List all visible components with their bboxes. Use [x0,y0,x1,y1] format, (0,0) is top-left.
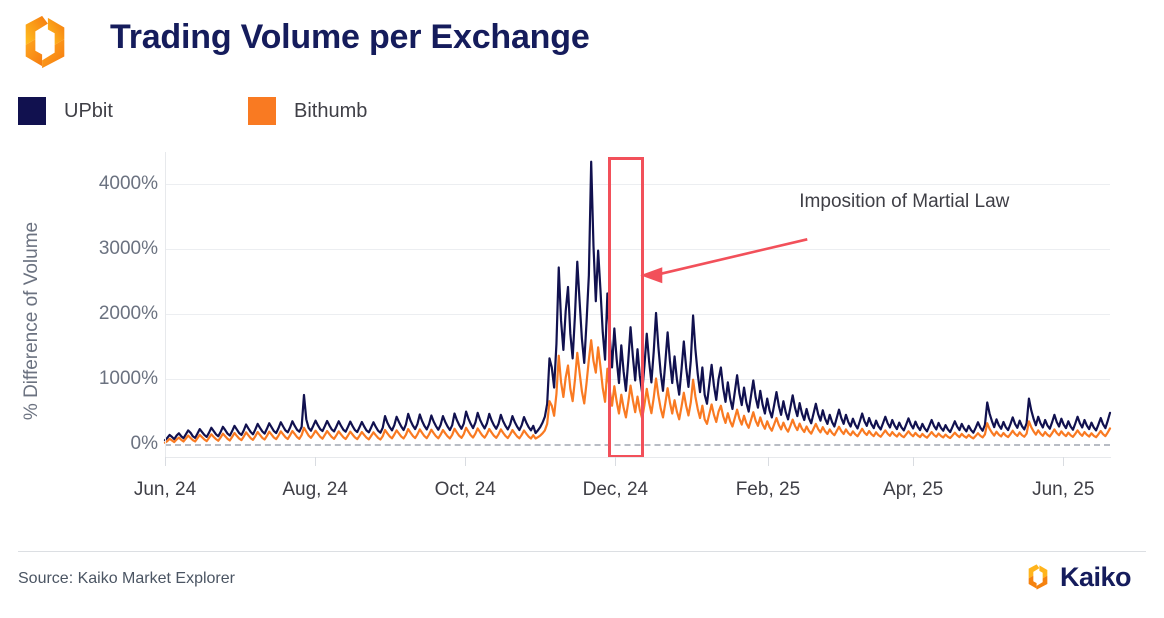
x-tick-label: Aug, 24 [282,479,348,501]
y-tick-label: 0% [131,433,158,455]
arrow-head [640,267,662,283]
kaiko-hexagon-logo-icon [1024,563,1052,591]
x-tick-label: Oct, 24 [435,479,496,501]
footer-logo: Kaiko [1024,562,1131,592]
x-tick-mark [465,457,466,466]
annotation-label-martial-law: Imposition of Martial Law [799,191,1009,213]
legend-item-upbit[interactable]: UPbit [18,94,113,128]
arrow-shaft [654,239,807,275]
x-tick-label: Feb, 25 [736,479,800,501]
footer-divider [18,551,1146,552]
x-tick-label: Dec, 24 [583,479,648,501]
x-tick-mark [913,457,914,466]
legend-swatch-bithumb [248,97,276,125]
y-tick-label: 4000% [99,173,158,195]
x-tick-mark [615,457,616,466]
y-tick-label: 3000% [99,238,158,260]
x-tick-mark [165,457,166,466]
legend-item-bithumb[interactable]: Bithumb [248,94,367,128]
x-tick-label: Apr, 25 [883,479,943,501]
y-tick-label: 2000% [99,303,158,325]
x-tick-mark [768,457,769,466]
page-title: Trading Volume per Exchange [110,18,590,57]
legend-label-bithumb: Bithumb [294,100,367,123]
footer-brand-label: Kaiko [1060,562,1131,593]
chart-area: % Difference of Volume 0%1000%2000%3000%… [0,140,1164,540]
x-axis-ticks: Jun, 24Aug, 24Oct, 24Dec, 24Feb, 25Apr, … [165,457,1110,467]
x-tick-label: Jun, 25 [1032,479,1094,501]
kaiko-hexagon-logo-icon [16,14,74,70]
legend-label-upbit: UPbit [64,100,113,123]
x-tick-mark [315,457,316,466]
y-axis-ticks: 0%1000%2000%3000%4000% [30,140,158,470]
header: Trading Volume per Exchange [0,0,1164,82]
y-tick-label: 1000% [99,368,158,390]
source-note: Source: Kaiko Market Explorer [18,570,235,588]
x-tick-label: Jun, 24 [134,479,196,501]
x-tick-mark [1063,457,1064,466]
legend-swatch-upbit [18,97,46,125]
